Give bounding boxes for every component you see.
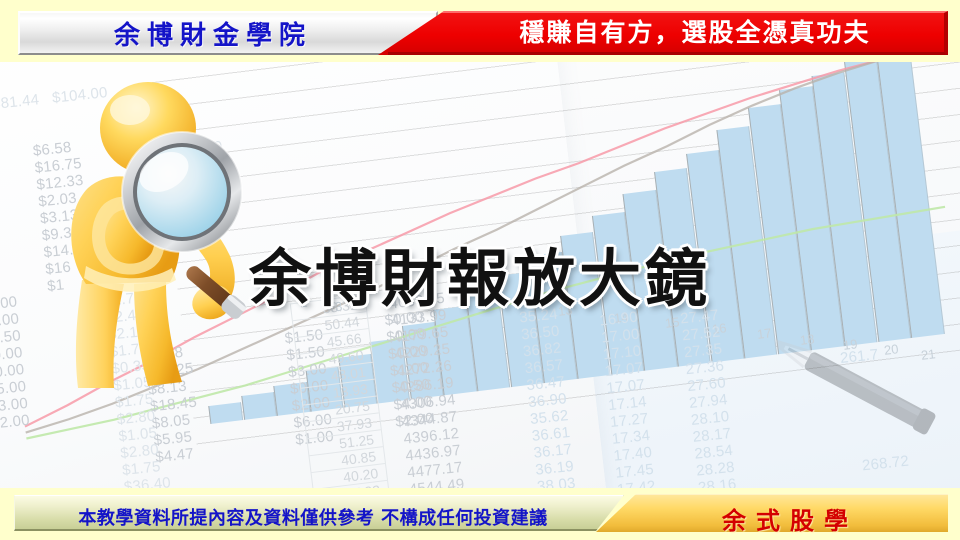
slogan-banner-label: 穩賺自有方，選股全憑真功夫 [440, 13, 950, 49]
disclaimer-label: 本教學資料所提內容及資料僅供參考 不構成任何投資建議 [28, 504, 598, 530]
page-title: 余博財報放大鏡 [0, 228, 960, 318]
fountain-pen-icon [750, 322, 950, 442]
footer-bar: 本教學資料所提內容及資料僅供參考 不構成任何投資建議 余式股學 [0, 488, 960, 540]
header-bar: 余博財金學院 穩賺自有方，選股全憑真功夫 [0, 0, 960, 62]
academy-plate-label: 余博財金學院 [48, 15, 378, 52]
slide-root: 2 3 13 14 15 16 17 18 19 20 21 881.44 $1… [0, 0, 960, 540]
brand-label: 余式股學 [640, 501, 940, 536]
